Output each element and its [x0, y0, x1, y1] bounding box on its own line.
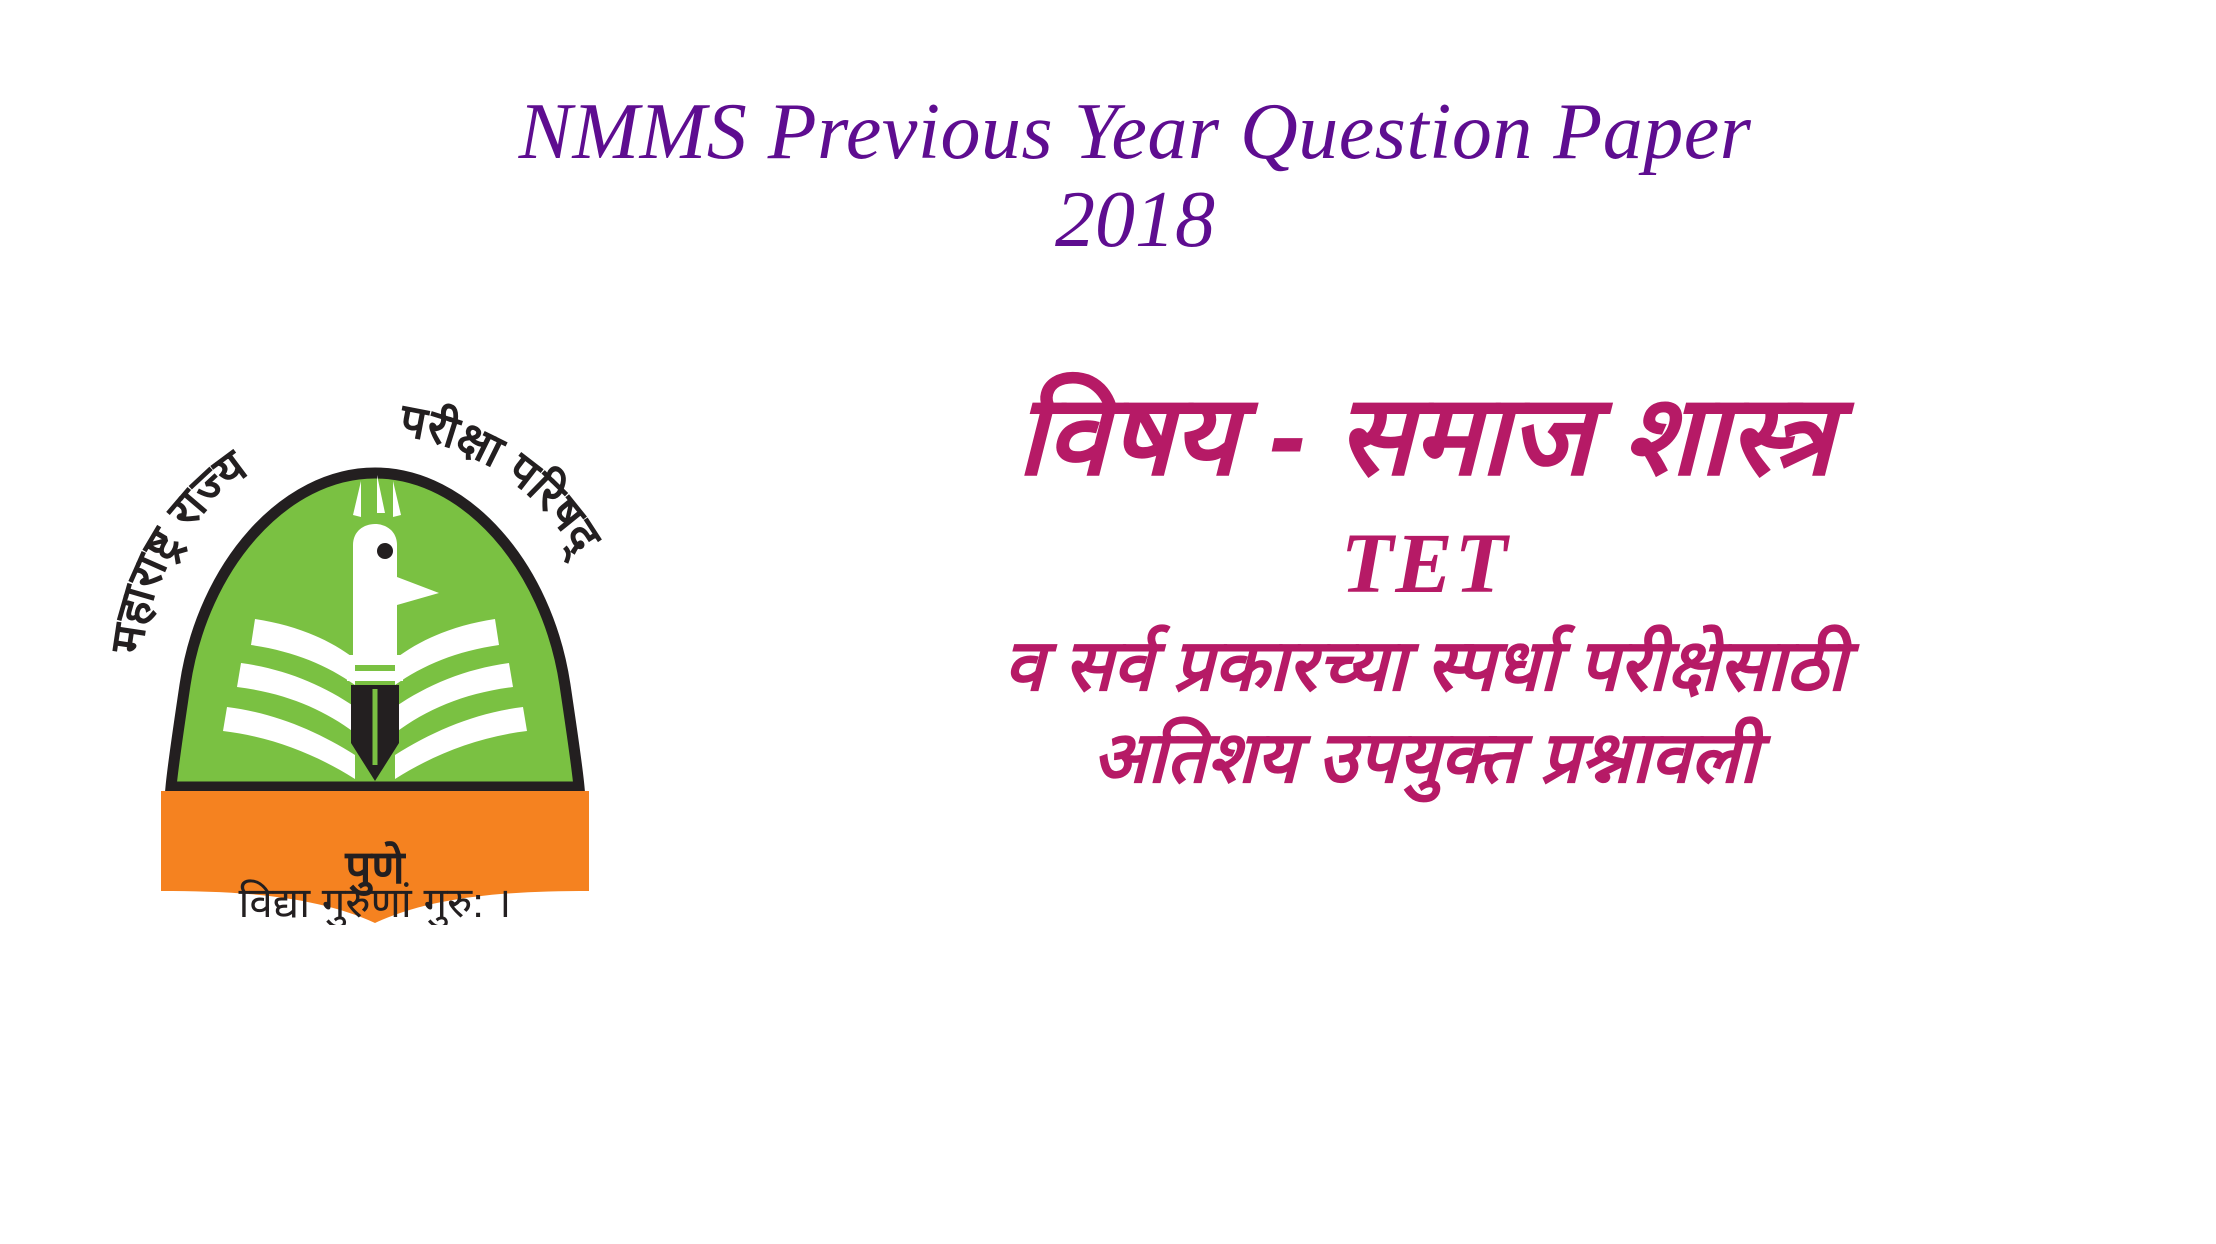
- poster-canvas: महाराष्ट्र राज्य परीक्षा परिषद्: [0, 0, 2216, 1244]
- msce-pune-logo: महाराष्ट्र राज्य परीक्षा परिषद्: [95, 355, 655, 925]
- subject-description-line-2: अतिशय उपयुक्त प्रश्नावली: [690, 713, 2160, 803]
- subject-block: विषय - समाज शास्त्र TET व सर्व प्रकारच्य…: [690, 370, 2160, 803]
- page-title-year: 2018: [170, 178, 2100, 262]
- subject-description-line-1: व सर्व प्रकारच्या स्पर्धा परीक्षेसाठी: [690, 621, 2160, 711]
- page-title: NMMS Previous Year Question Paper: [170, 88, 2100, 178]
- logo-motto: विद्या गुरुणां गुरु: ।: [239, 879, 512, 925]
- exam-abbreviation: TET: [690, 516, 2160, 611]
- subject-heading: विषय - समाज शास्त्र: [690, 370, 2160, 502]
- poster-title-block: NMMS Previous Year Question Paper 2018: [170, 88, 2100, 262]
